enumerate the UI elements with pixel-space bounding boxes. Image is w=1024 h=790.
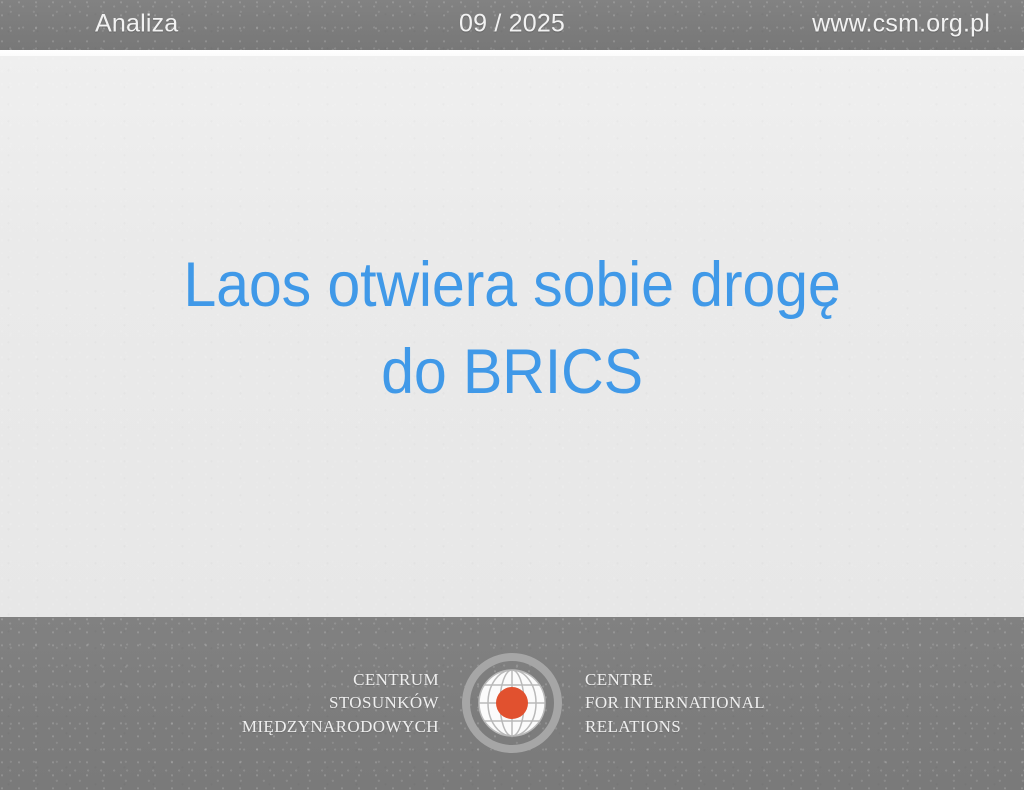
logo-name-english-line-1: CENTRE — [585, 668, 797, 691]
header-document-type: Analiza — [95, 12, 178, 37]
logo-name-polish-line-1: CENTRUM — [227, 668, 439, 691]
footer-band: CENTRUM STOSUNKÓW MIĘDZYNARODOWYCH — [0, 617, 1024, 790]
logo-name-english-line-2: FOR INTERNATIONAL — [585, 691, 797, 714]
slide-body: Laos otwiera sobie drogę do BRICS — [0, 56, 1024, 617]
page-title: Laos otwiera sobie drogę do BRICS — [0, 242, 1024, 416]
logo-name-polish-line-3: MIĘDZYNARODOWYCH — [227, 715, 439, 738]
page-title-line-1: Laos otwiera sobie drogę — [68, 242, 955, 329]
header-issue-date: 09 / 2025 — [459, 12, 565, 37]
globe-emblem-graphic — [461, 652, 563, 754]
logo-name-english-line-3: RELATIONS — [585, 715, 797, 738]
page-title-line-2: do BRICS — [68, 329, 955, 416]
logo-name-polish: CENTRUM STOSUNKÓW MIĘDZYNARODOWYCH — [227, 668, 461, 738]
logo-name-polish-line-2: STOSUNKÓW — [227, 691, 439, 714]
logo-name-english: CENTRE FOR INTERNATIONAL RELATIONS — [563, 668, 797, 738]
header-website-url[interactable]: www.csm.org.pl — [812, 12, 990, 37]
header-content: Analiza 09 / 2025 www.csm.org.pl — [0, 0, 1024, 50]
globe-emblem-icon — [461, 652, 563, 754]
header-band: Analiza 09 / 2025 www.csm.org.pl — [0, 0, 1024, 50]
organization-logo: CENTRUM STOSUNKÓW MIĘDZYNARODOWYCH — [0, 652, 1024, 754]
slide-canvas: Analiza 09 / 2025 www.csm.org.pl Laos ot… — [0, 0, 1024, 790]
